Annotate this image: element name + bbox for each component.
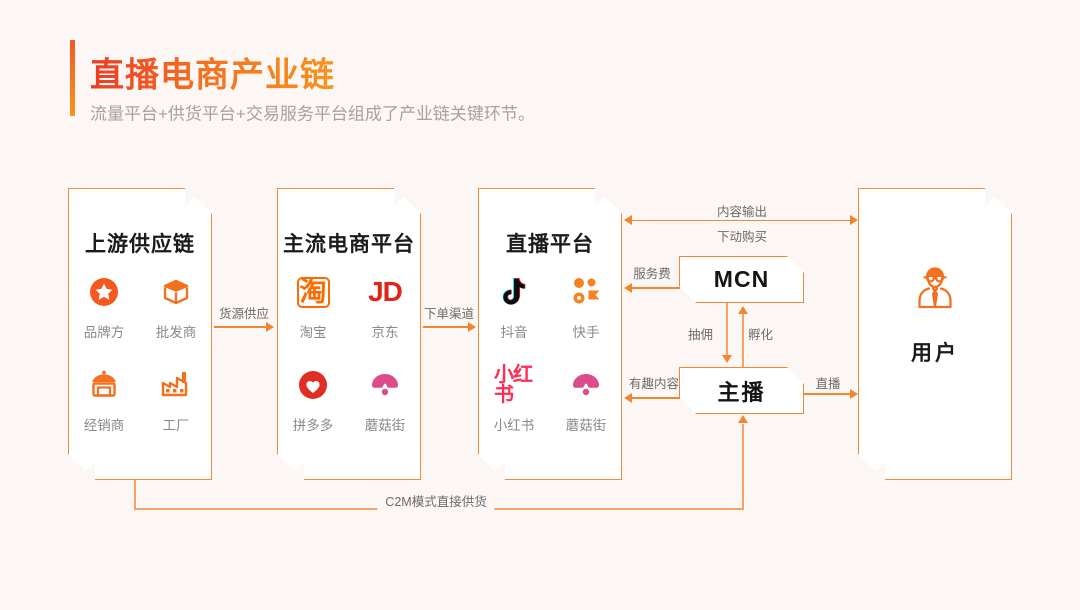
mogujie-icon [566,365,606,405]
label-livestream: 直播 [815,373,840,392]
item-label: 蘑菇街 [365,414,406,434]
item-kuaishou[interactable]: 快手 [550,272,622,341]
card-title: 主流电商平台 [277,228,421,258]
label-commission: 抽佣 [688,324,713,343]
card-icon-grid: 抖音 快手 小红书 小红书 [478,272,622,434]
arrow-supply-head [266,322,274,332]
card-icon-grid: 品牌方 批发商 [68,272,212,434]
item-taobao[interactable]: 淘 淘宝 [277,272,349,341]
label-incubation: 孵化 [748,324,773,343]
label-c2m: C2M模式直接供货 [377,491,494,510]
header-accent-bar [70,40,75,116]
arrow-service-fee-line [630,287,680,289]
arrow-order-line [423,326,470,328]
card-mainstream-ecommerce-content: 主流电商平台 淘 淘宝 JD 京东 [277,188,421,480]
item-label: 批发商 [156,321,197,341]
kuaishou-icon [566,272,606,312]
item-mogujie[interactable]: 蘑菇街 [550,365,622,434]
arrow-interesting-head [624,393,632,403]
arrow-incubation-head [738,306,748,314]
node-anchor[interactable]: 主播 [679,367,804,414]
arrow-supply-line [214,326,268,328]
diagram-canvas: 直播电商产业链 流量平台+供货平台+交易服务平台组成了产业链关键环节。 上游供应… [0,0,1080,610]
jd-icon: JD [365,272,405,312]
item-xiaohongshu[interactable]: 小红书 小红书 [478,365,550,434]
arrow-interesting-line [630,397,680,399]
item-label: 京东 [372,321,399,341]
arrow-content-head-left [624,215,632,225]
item-mogujie[interactable]: 蘑菇街 [349,365,421,434]
label-order-channel: 下单渠道 [424,303,474,322]
label-service-fee: 服务费 [633,263,671,282]
pinduoduo-icon [293,365,333,405]
arrow-commission-line [726,303,728,357]
node-mcn[interactable]: MCN [679,256,804,303]
item-label: 淘宝 [300,321,327,341]
item-label: 经销商 [84,414,125,434]
label-interesting-content: 有趣内容 [629,373,679,392]
item-brand[interactable]: 品牌方 [68,272,140,341]
arrow-content-line [630,220,856,222]
factory-icon [156,365,196,405]
c2m-arrow-head [738,415,748,423]
taobao-icon: 淘 [293,272,333,312]
jd-glyph: JD [368,278,402,306]
item-label: 蘑菇街 [566,414,607,434]
item-label: 快手 [573,321,600,341]
item-label: 工厂 [163,414,190,434]
arrow-order-head [468,322,476,332]
arrow-incubation-line [742,312,744,367]
arrow-service-fee-head [624,283,632,293]
page-title: 直播电商产业链 [90,48,335,97]
open-box-icon [156,272,196,312]
user-avatar-icon [907,260,963,321]
item-factory[interactable]: 工厂 [140,365,212,434]
card-user-content: 用户 [858,188,1012,480]
item-label: 抖音 [501,321,528,341]
item-wholesaler[interactable]: 批发商 [140,272,212,341]
arrow-livestream-line [804,393,852,395]
c2m-line-left-vertical [134,480,136,509]
douyin-icon [494,272,534,312]
taobao-glyph: 淘 [297,277,330,308]
item-distributor[interactable]: 经销商 [68,365,140,434]
arrow-livestream-head [850,389,858,399]
label-supply: 货源供应 [219,303,269,322]
item-label: 拼多多 [293,414,334,434]
item-pinduoduo[interactable]: 拼多多 [277,365,349,434]
xiaohongshu-icon: 小红书 [494,365,534,405]
item-label: 品牌方 [84,321,125,341]
xiaohongshu-glyph: 小红书 [494,365,534,405]
card-livestream-platform-content: 直播平台 抖音 [478,188,622,480]
label-content-output: 内容输出 [717,201,767,220]
item-label: 小红书 [494,414,535,434]
user-label: 用户 [911,337,959,367]
arrow-content-head-right [850,215,858,225]
mogujie-icon [365,365,405,405]
card-upstream-supply-chain-content: 上游供应链 品牌方 批 [68,188,212,480]
item-douyin[interactable]: 抖音 [478,272,550,341]
card-title: 直播平台 [478,228,622,258]
card-title: 上游供应链 [68,228,212,258]
item-jd[interactable]: JD 京东 [349,272,421,341]
label-impulse-buy: 下动购买 [717,226,767,245]
star-badge-icon [84,272,124,312]
c2m-line-right-vertical [742,424,744,509]
storefront-icon [84,365,124,405]
card-icon-grid: 淘 淘宝 JD 京东 拼多多 [277,272,421,434]
page-subtitle: 流量平台+供货平台+交易服务平台组成了产业链关键环节。 [90,100,535,125]
arrow-commission-head [722,355,732,363]
